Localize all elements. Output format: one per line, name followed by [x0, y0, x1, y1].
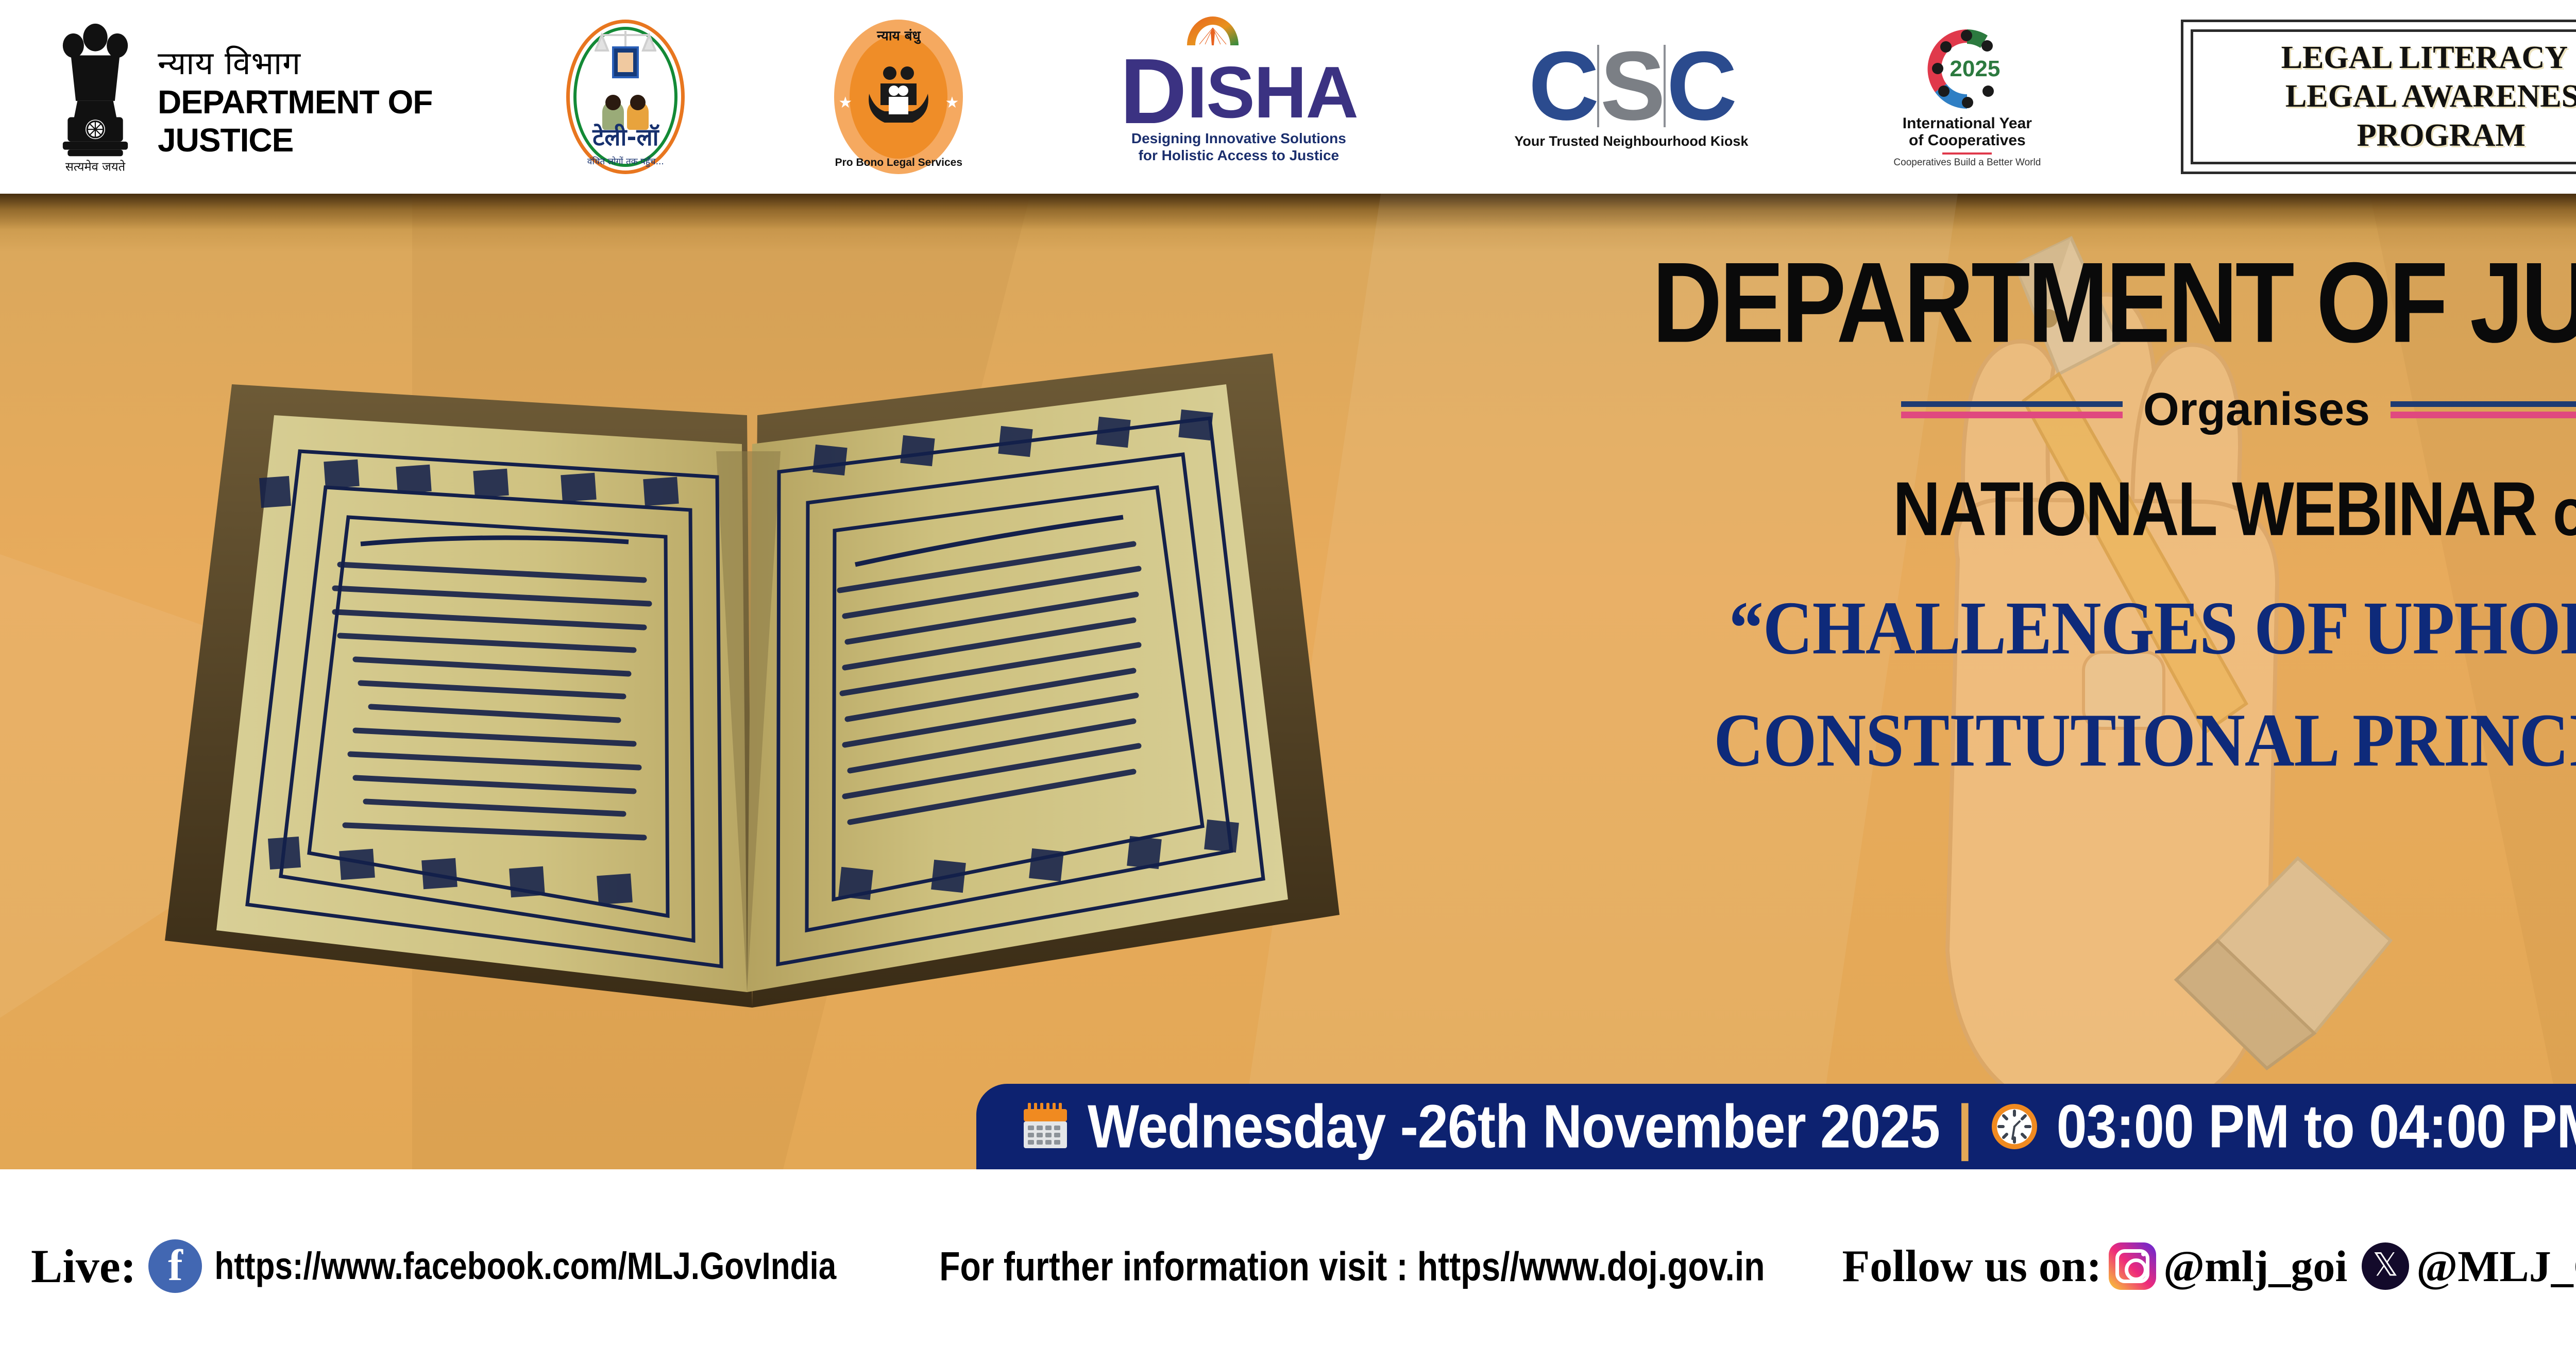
logo-disha: D ISHA Designing Innovative Solutions fo…: [1117, 30, 1360, 164]
cooperatives-rule: [1942, 152, 1992, 155]
facebook-url[interactable]: https://www.facebook.com/MLJ.GovIndia: [214, 1244, 836, 1288]
logo-international-year-of-cooperatives: 2025 International Year of Cooperatives …: [1882, 25, 2052, 168]
clock-icon: [1990, 1102, 2039, 1151]
webinar-topic-line1: “CHALLENGES OF UPHOLDING: [1355, 572, 2576, 684]
disha-subtitle-line2: for Holistic Access to Justice: [1131, 147, 1346, 164]
further-information-text[interactable]: For further information visit : https//w…: [939, 1242, 1765, 1289]
logo-department-of-justice: सत्यमेव जयते न्याय विभाग DEPARTMENT OF J…: [46, 20, 432, 174]
star-icon: ★: [945, 94, 959, 112]
csc-tagline: Your Trusted Neighbourhood Kiosk: [1514, 133, 1748, 149]
csc-divider-bar: [1664, 45, 1666, 127]
cooperatives-year: 2025: [1923, 56, 2011, 82]
disha-letters-isha: ISHA: [1187, 58, 1358, 128]
follow-label: Follow us on:: [1842, 1240, 2102, 1292]
cooperatives-tagline: Cooperatives Build a Better World: [1893, 157, 2041, 168]
schedule-banner: Wednesday -26th November 2025 | 03:00 PM…: [976, 1084, 2576, 1169]
hands-holding-people-icon: [860, 64, 937, 131]
nyaya-bandhu-hindi: न्याय बंधु: [834, 26, 963, 44]
schedule-divider: |: [1957, 1092, 1972, 1162]
cooperatives-title-line2: of Cooperatives: [1903, 132, 2032, 149]
divider-left: [1901, 401, 2123, 418]
header-logo-strip: सत्यमेव जयते न्याय विभाग DEPARTMENT OF J…: [0, 0, 2576, 194]
logo-tele-law: टेली-लॉ वंचित लोगों तक पहुँच...: [566, 20, 685, 174]
footer-bar: Live: https://www.facebook.com/MLJ.GovIn…: [0, 1169, 2576, 1363]
follow-section: Follow us on: @mlj_goi @MLJ_Goi: [1842, 1240, 2576, 1292]
organises-label: Organises: [2143, 383, 2370, 436]
csc-letter-c1: C: [1529, 47, 1596, 125]
star-icon: ★: [838, 94, 852, 112]
ashoka-emblem-icon: सत्यमेव जयते: [46, 20, 144, 174]
nyaya-bandhu-tagline: Pro Bono Legal Services: [834, 157, 963, 169]
organiser-title: DEPARTMENT OF JUSTICE: [1355, 245, 2576, 360]
live-label: Live:: [31, 1239, 136, 1293]
tele-law-title: टेली-लॉ: [566, 121, 685, 152]
webinar-date: Wednesday -26th November 2025: [1088, 1092, 1940, 1162]
svg-text:सत्यमेव जयते: सत्यमेव जयते: [65, 160, 126, 174]
facebook-icon[interactable]: [148, 1239, 202, 1293]
logo-csc: C S C Your Trusted Neighbourhood Kiosk: [1514, 45, 1748, 149]
legal-literacy-line2: LEGAL AWARENESS: [2285, 77, 2576, 116]
organises-row: Organises: [1355, 383, 2576, 436]
legal-literacy-program-box: LEGAL LITERACY & LEGAL AWARENESS PROGRAM: [2181, 20, 2576, 174]
instagram-icon[interactable]: [2109, 1242, 2156, 1290]
csc-divider-bar: [1597, 45, 1599, 127]
logo-nyaya-bandhu: न्याय बंधु ★ ★ Pro Bono Legal Services: [834, 20, 963, 174]
disha-arc-icon: [1182, 0, 1244, 46]
webinar-time: 03:00 PM to 04:00 PM: [2057, 1092, 2576, 1162]
instagram-handle[interactable]: @mlj_goi: [2163, 1240, 2347, 1292]
tele-law-tagline: वंचित लोगों तक पहुँच...: [566, 155, 685, 167]
webinar-poster: सत्यमेव जयते न्याय विभाग DEPARTMENT OF J…: [0, 0, 2576, 1363]
webinar-topic-line2: CONSTITUTIONAL PRINCIPLES”: [1355, 684, 2576, 796]
doj-hindi-name: न्याय विभाग: [158, 47, 432, 79]
constitution-of-india-book-image: [155, 322, 1350, 1044]
legal-literacy-line3: PROGRAM: [2357, 116, 2526, 156]
legal-literacy-line1: LEGAL LITERACY &: [2281, 39, 2576, 78]
event-type: NATIONAL WEBINAR: [1893, 466, 2536, 552]
headline-block: DEPARTMENT OF JUSTICE Organises NATIONAL…: [1355, 245, 2576, 776]
doj-name-line2: JUSTICE: [158, 124, 432, 157]
doj-name-line1: DEPARTMENT OF: [158, 86, 432, 118]
x-handle[interactable]: @MLJ_Goi: [2416, 1240, 2576, 1292]
x-twitter-icon[interactable]: [2362, 1242, 2409, 1290]
event-type-row: NATIONAL WEBINAR on: [1355, 465, 2576, 553]
csc-letter-s: S: [1600, 47, 1663, 125]
csc-letter-c2: C: [1667, 47, 1734, 125]
calendar-icon: [1021, 1102, 1070, 1151]
cooperatives-title-line1: International Year: [1903, 115, 2032, 132]
event-type-suffix: on: [2553, 475, 2576, 550]
live-section: Live: https://www.facebook.com/MLJ.GovIn…: [31, 1239, 836, 1293]
poster-body: DEPARTMENT OF JUSTICE Organises NATIONAL…: [0, 194, 2576, 1169]
tele-law-video-screen: [612, 46, 639, 78]
disha-letter-d: D: [1120, 56, 1187, 128]
divider-right: [2391, 401, 2576, 418]
